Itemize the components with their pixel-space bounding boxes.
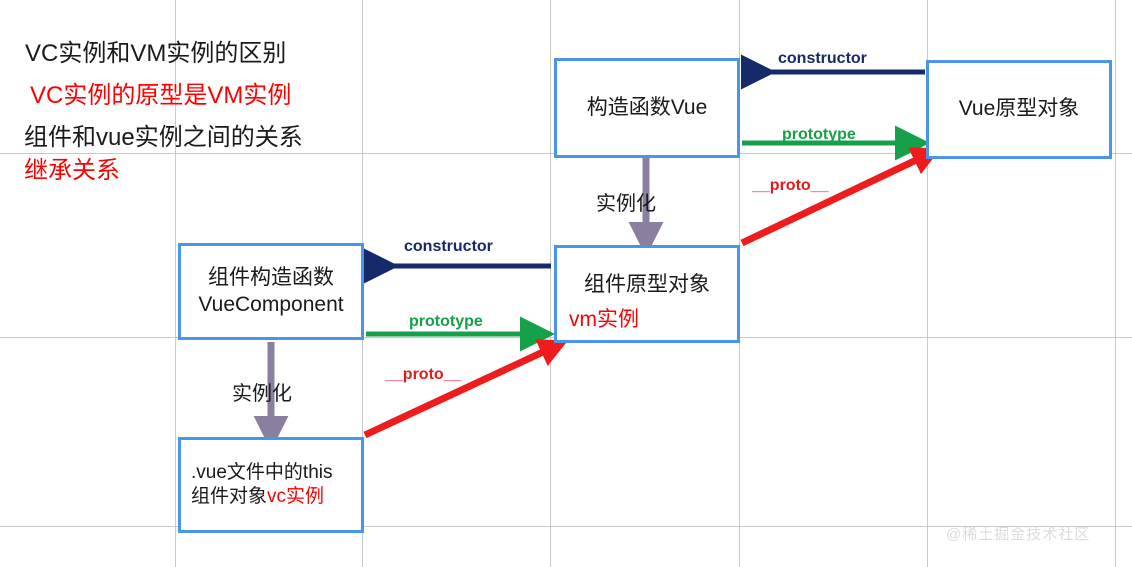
box-vue-constructor-label: 构造函数Vue bbox=[587, 95, 708, 122]
label-constructor-top: constructor bbox=[778, 50, 867, 68]
diagram-canvas: VC实例和VM实例的区别 VC实例的原型是VM实例 组件和vue实例之间的关系 … bbox=[0, 0, 1132, 567]
note-line-2: VC实例的原型是VM实例 bbox=[30, 75, 291, 110]
note-line-4: 继承关系 bbox=[24, 150, 120, 185]
box-vue-constructor[interactable]: 构造函数Vue bbox=[554, 58, 740, 158]
box-component-prototype-label: 组件原型对象 bbox=[584, 272, 710, 299]
box-vue-prototype-label: Vue原型对象 bbox=[959, 96, 1080, 123]
box-vue-file-this-label-1: .vue文件中的this bbox=[191, 461, 332, 485]
note-line-3: 组件和vue实例之间的关系 bbox=[24, 117, 303, 152]
arrow-proto-top bbox=[742, 153, 931, 243]
label-proto-top: __proto__ bbox=[752, 177, 828, 195]
box-component-prototype-vm-label: vm实例 bbox=[569, 307, 639, 334]
label-constructor-mid: constructor bbox=[404, 238, 493, 256]
box-vue-file-this-label-2: 组件对象vc实例 bbox=[191, 485, 324, 509]
box-vuecomponent-constructor[interactable]: 组件构造函数 VueComponent bbox=[178, 243, 364, 340]
box-vuecomponent-label-2: VueComponent bbox=[198, 292, 343, 319]
note-line-1: VC实例和VM实例的区别 bbox=[25, 33, 286, 68]
label-instantiate-top: 实例化 bbox=[596, 187, 656, 216]
arrow-proto-mid bbox=[365, 345, 558, 435]
box-vue-prototype[interactable]: Vue原型对象 bbox=[926, 60, 1112, 159]
watermark: @稀土掘金技术社区 bbox=[946, 523, 1090, 544]
label-prototype-mid: prototype bbox=[409, 313, 483, 331]
box-component-prototype[interactable]: 组件原型对象 vm实例 bbox=[554, 245, 740, 343]
label-instantiate-mid: 实例化 bbox=[232, 377, 292, 406]
box-vue-file-this-object-text: 组件对象 bbox=[191, 486, 267, 507]
label-prototype-top: prototype bbox=[782, 126, 856, 144]
box-vue-file-this-vc-label: vc实例 bbox=[267, 486, 324, 507]
label-proto-mid: __proto__ bbox=[385, 366, 461, 384]
box-vuecomponent-label-1: 组件构造函数 bbox=[208, 265, 334, 292]
box-vue-file-this[interactable]: .vue文件中的this 组件对象vc实例 bbox=[178, 437, 364, 533]
